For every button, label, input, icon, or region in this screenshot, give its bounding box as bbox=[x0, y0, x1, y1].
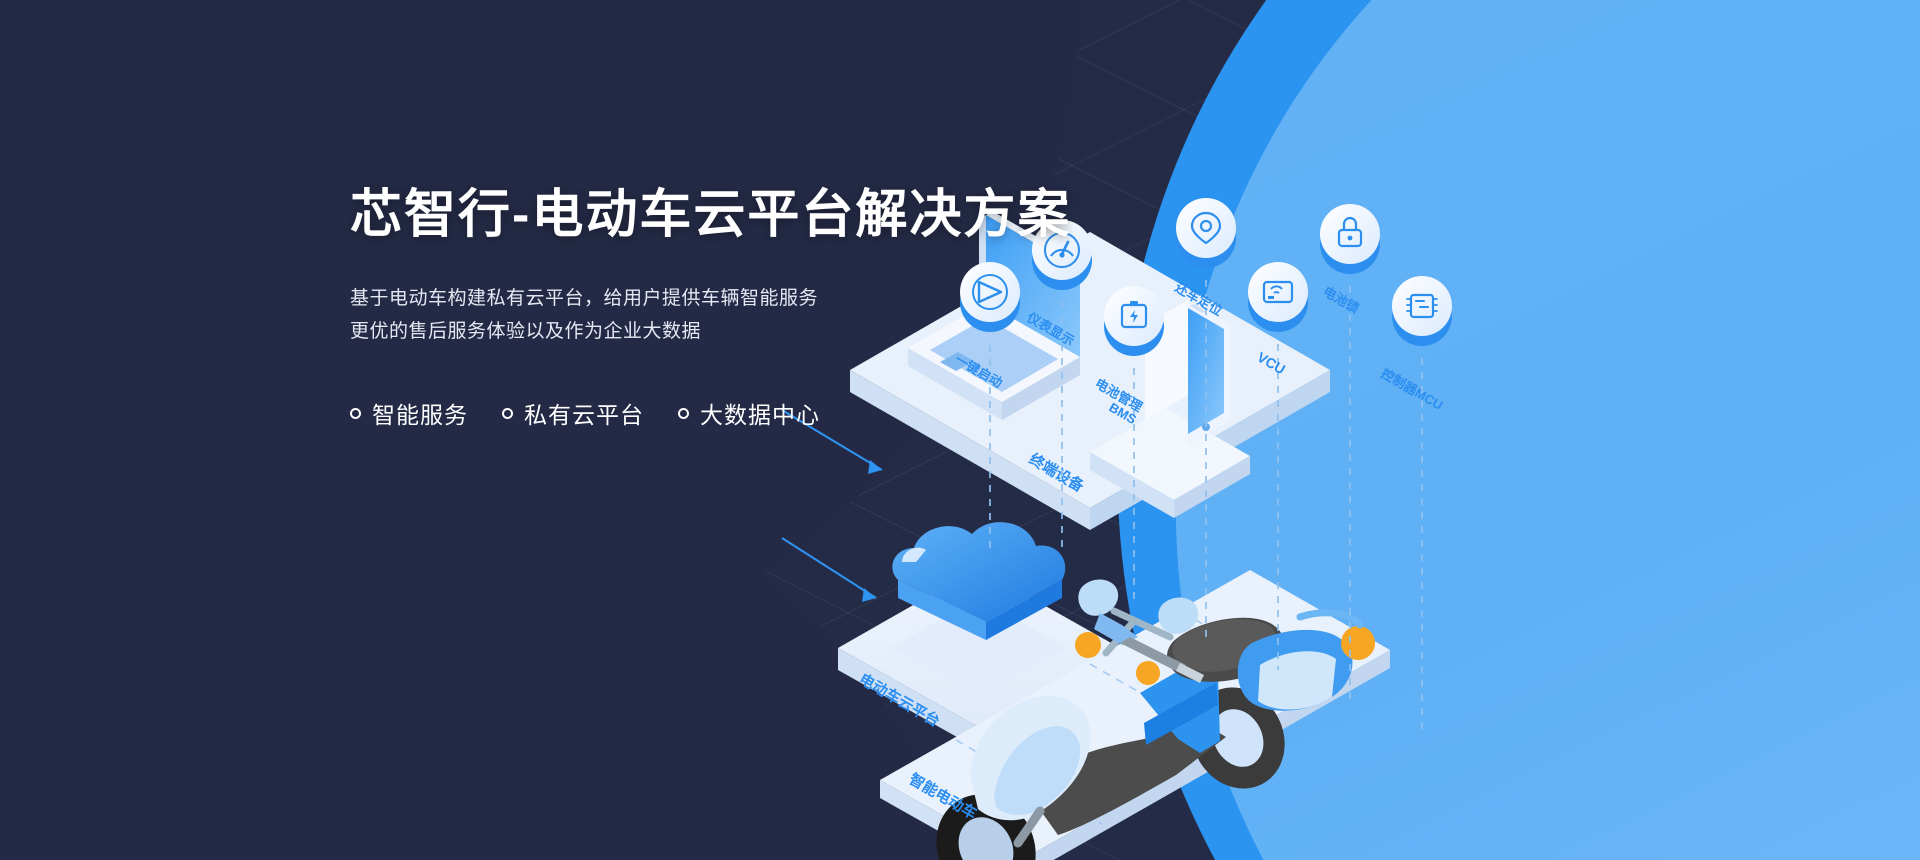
feature-battery-lock[interactable]: 电池锁 bbox=[1320, 204, 1380, 316]
circle-bullet-icon bbox=[350, 408, 361, 419]
copy-block: 芯智行-电动车云平台解决方案 基于电动车构建私有云平台，给用户提供车辆智能服务 … bbox=[350, 186, 1170, 430]
bullet-item-big-data: 大数据中心 bbox=[678, 396, 820, 430]
bullet-label: 大数据中心 bbox=[700, 396, 820, 430]
feature-bullet-list: 智能服务 私有云平台 大数据中心 bbox=[350, 396, 1170, 430]
circle-bullet-icon bbox=[502, 408, 513, 419]
page-title: 芯智行-电动车云平台解决方案 bbox=[350, 186, 1170, 246]
bullet-label: 智能服务 bbox=[372, 396, 468, 430]
feature-label: 控制器MCU bbox=[1379, 366, 1446, 413]
page-subtitle: 基于电动车构建私有云平台，给用户提供车辆智能服务 更优的售后服务体验以及作为企业… bbox=[350, 282, 1170, 349]
feature-label: 电池锁 bbox=[1321, 284, 1362, 316]
bullet-label: 私有云平台 bbox=[524, 396, 644, 430]
circle-bullet-icon bbox=[678, 408, 689, 419]
feature-mcu[interactable]: 控制器MCU bbox=[1379, 276, 1453, 413]
bullet-item-private-cloud: 私有云平台 bbox=[502, 396, 644, 430]
bullet-item-smart-service: 智能服务 bbox=[350, 396, 468, 430]
subtitle-line-2: 更优的售后服务体验以及作为企业大数据 bbox=[350, 315, 1170, 348]
banner-root: 芯智行-电动车云平台解决方案 基于电动车构建私有云平台，给用户提供车辆智能服务 … bbox=[0, 0, 1920, 860]
subtitle-line-1: 基于电动车构建私有云平台，给用户提供车辆智能服务 bbox=[350, 282, 1170, 315]
